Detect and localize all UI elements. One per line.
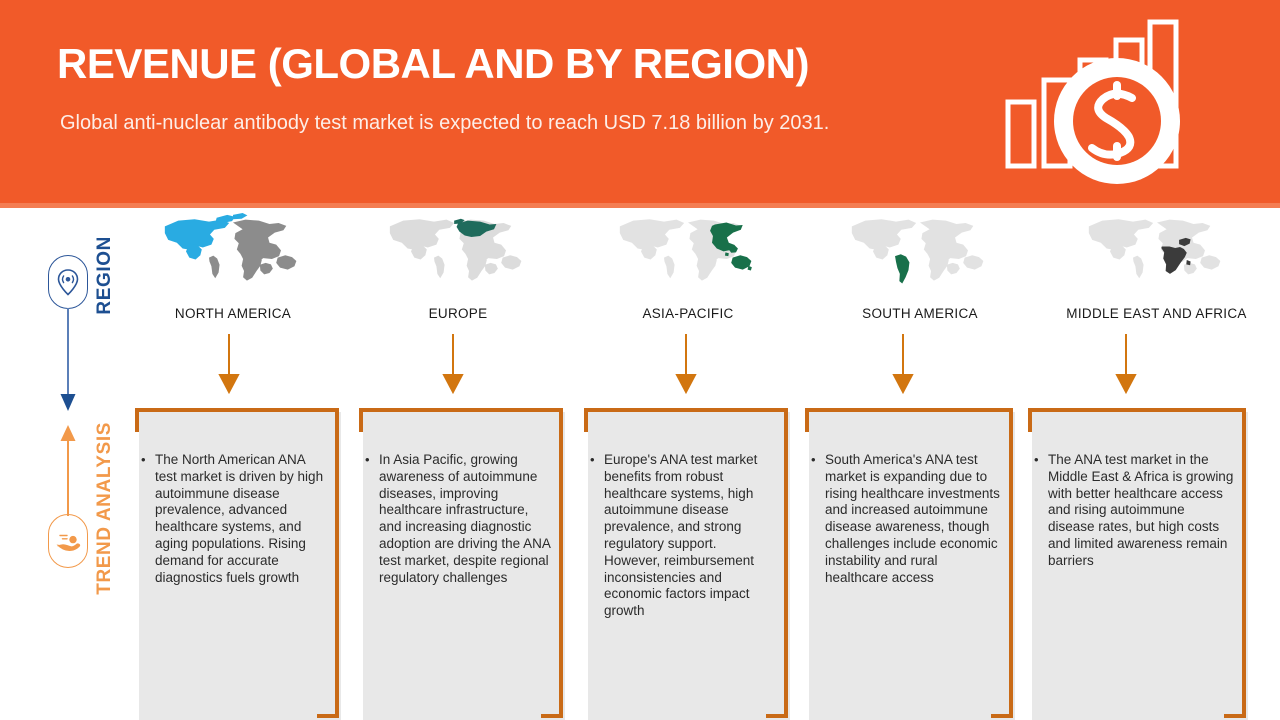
- slide-root: REVENUE (GLOBAL AND BY REGION) Global an…: [0, 0, 1280, 720]
- trend-text-content-2: In Asia Pacific, growing awareness of au…: [379, 452, 550, 585]
- trend-text-content-3: Europe's ANA test market benefits from r…: [604, 452, 757, 618]
- region-label-middle-east-africa: MIDDLE EAST AND AFRICA: [1054, 306, 1259, 321]
- trend-analysis-boxes: • The North American ANA test market is …: [0, 398, 1280, 720]
- trend-box-3[interactable]: • Europe's ANA test market benefits from…: [582, 406, 790, 720]
- region-column-north-america[interactable]: NORTH AMERICA: [153, 212, 313, 321]
- region-label-europe: EUROPE: [378, 306, 538, 321]
- bullet-icon-1: •: [141, 452, 146, 469]
- trend-box-1[interactable]: • The North American ANA test market is …: [133, 406, 341, 720]
- trend-text-5: • The ANA test market in the Middle East…: [1048, 452, 1234, 570]
- world-map-south-america: [845, 212, 995, 284]
- trend-box-2[interactable]: • In Asia Pacific, growing awareness of …: [357, 406, 565, 720]
- world-map-europe: [383, 212, 533, 284]
- trend-text-content-1: The North American ANA test market is dr…: [155, 452, 323, 585]
- rail-label-region: REGION: [94, 236, 116, 315]
- region-label-north-america: NORTH AMERICA: [153, 306, 313, 321]
- region-label-south-america: SOUTH AMERICA: [840, 306, 1000, 321]
- bullet-icon-5: •: [1034, 452, 1039, 469]
- trend-text-content-5: The ANA test market in the Middle East &…: [1048, 452, 1233, 568]
- trend-box-5[interactable]: • The ANA test market in the Middle East…: [1026, 406, 1248, 720]
- trend-text-1: • The North American ANA test market is …: [155, 452, 327, 586]
- region-label-asia-pacific: ASIA-PACIFIC: [608, 306, 768, 321]
- bullet-icon-2: •: [365, 452, 370, 469]
- bullet-icon-3: •: [590, 452, 595, 469]
- region-row: NORTH AMERICA EUROPE: [132, 212, 1280, 332]
- region-column-europe[interactable]: EUROPE: [378, 212, 538, 321]
- region-column-middle-east-africa[interactable]: MIDDLE EAST AND AFRICA: [1054, 212, 1259, 321]
- trend-text-content-4: South America's ANA test market is expan…: [825, 452, 1000, 585]
- world-map-middle-east-africa: [1082, 212, 1232, 284]
- bullet-icon-4: •: [811, 452, 816, 469]
- trend-text-3: • Europe's ANA test market benefits from…: [604, 452, 776, 620]
- trend-box-4[interactable]: • South America's ANA test market is exp…: [803, 406, 1015, 720]
- region-column-south-america[interactable]: SOUTH AMERICA: [840, 212, 1000, 321]
- header-divider: [0, 203, 1280, 208]
- world-map-asia-pacific: [613, 212, 763, 284]
- location-pin-icon: [48, 255, 88, 309]
- trend-text-4: • South America's ANA test market is exp…: [825, 452, 1001, 586]
- header-banner: REVENUE (GLOBAL AND BY REGION) Global an…: [0, 0, 1280, 203]
- trend-text-2: • In Asia Pacific, growing awareness of …: [379, 452, 551, 586]
- header-subtitle: Global anti-nuclear antibody test market…: [60, 108, 860, 139]
- bar-chart-dollar-coin-icon: [1000, 14, 1210, 194]
- region-column-asia-pacific[interactable]: ASIA-PACIFIC: [608, 212, 768, 321]
- world-map-north-america: [158, 212, 308, 284]
- page-title: REVENUE (GLOBAL AND BY REGION): [57, 40, 809, 88]
